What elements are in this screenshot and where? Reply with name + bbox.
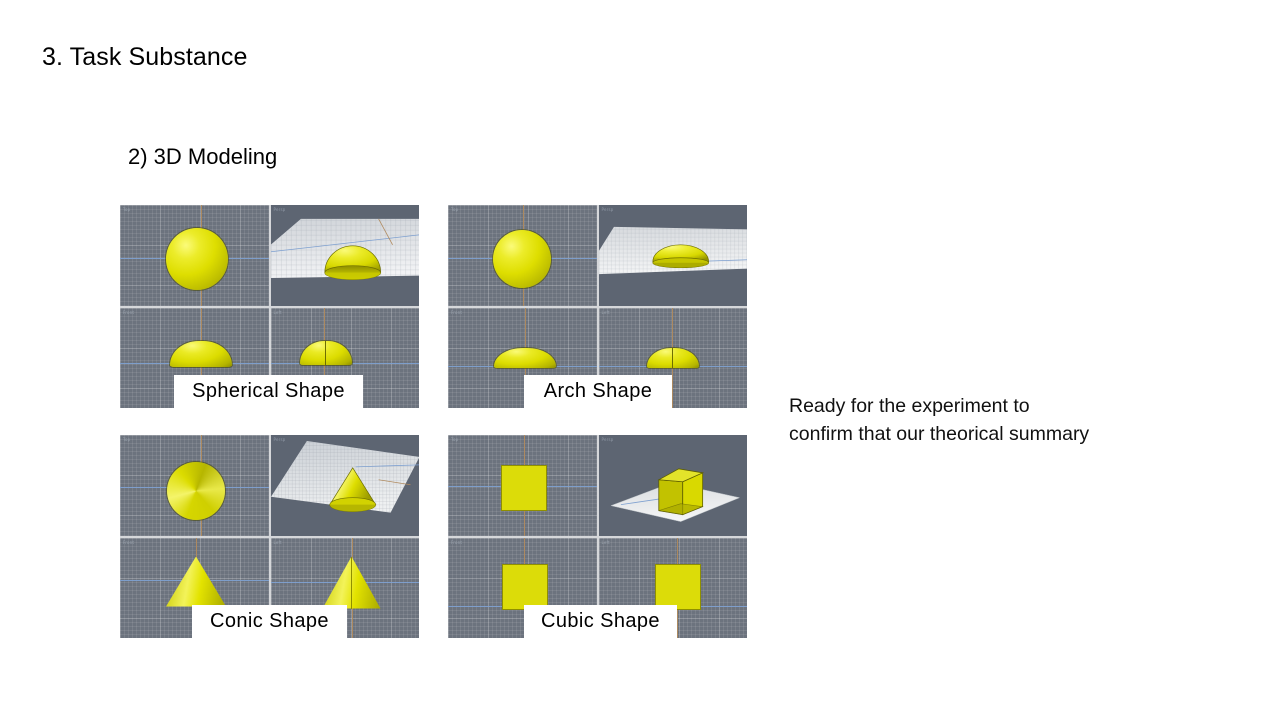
perspective-scene [271, 205, 420, 306]
caption-conic-shape: Conic Shape [192, 605, 347, 638]
viewport-label: Front [451, 540, 462, 545]
section-subtitle: 2) 3D Modeling [128, 144, 277, 170]
viewport-cubic-perspective[interactable]: Persp [599, 435, 748, 536]
perspective-scene [271, 435, 420, 536]
viewport-label: Top [451, 437, 458, 442]
viewport-spherical-perspective[interactable]: Persp [271, 205, 420, 306]
shape-square [501, 465, 547, 511]
shape-sphere [166, 228, 228, 290]
shape-square [655, 564, 701, 610]
viewport-cubic-top[interactable]: Top [448, 435, 597, 536]
viewport-conic-perspective[interactable]: Persp [271, 435, 420, 536]
shape-dome [647, 348, 699, 368]
viewport-label: Top [123, 437, 130, 442]
caption-spherical-shape: Spherical Shape [174, 375, 363, 408]
shape-seam [351, 557, 352, 609]
page-title: 3. Task Substance [42, 43, 248, 72]
viewport-conic-top[interactable]: Top [120, 435, 269, 536]
shape-seam [672, 348, 673, 368]
viewport-label: Left [602, 540, 610, 545]
viewport-label: Persp [274, 207, 286, 212]
viewport-label: Front [451, 310, 462, 315]
viewport-label: Left [274, 540, 282, 545]
viewport-label: Front [123, 310, 134, 315]
viewport-arch-top[interactable]: Top [448, 205, 597, 306]
perspective-scene [599, 205, 748, 306]
viewport-arch-perspective[interactable]: Persp [599, 205, 748, 306]
side-note-line-2: confirm that our theorical summary [789, 420, 1209, 448]
shape-cone-top [167, 462, 225, 520]
shape-dome [494, 348, 556, 368]
side-note: Ready for the experiment to confirm that… [789, 392, 1209, 448]
viewport-label: Front [123, 540, 134, 545]
shape-cone [323, 557, 381, 609]
viewport-label: Left [602, 310, 610, 315]
perspective-scene [599, 435, 748, 536]
viewport-spherical-top[interactable]: Top [120, 205, 269, 306]
viewport-label: Top [451, 207, 458, 212]
side-note-line-1: Ready for the experiment to [789, 392, 1209, 420]
viewport-label: Persp [274, 437, 286, 442]
shape-dome [300, 341, 352, 365]
shape-square [502, 564, 548, 610]
viewport-label: Persp [602, 437, 614, 442]
caption-arch-shape: Arch Shape [524, 375, 672, 408]
caption-cubic-shape: Cubic Shape [524, 605, 677, 638]
caption-text: Arch Shape [524, 375, 672, 406]
shape-cone [166, 557, 226, 607]
caption-text: Cubic Shape [524, 605, 677, 636]
viewport-label: Persp [602, 207, 614, 212]
shape-sphere [493, 230, 551, 288]
shape-seam [325, 341, 326, 365]
viewport-label: Top [123, 207, 130, 212]
viewport-label: Left [274, 310, 282, 315]
shape-dome [170, 341, 232, 367]
caption-text: Conic Shape [192, 605, 347, 636]
caption-text: Spherical Shape [174, 375, 363, 406]
